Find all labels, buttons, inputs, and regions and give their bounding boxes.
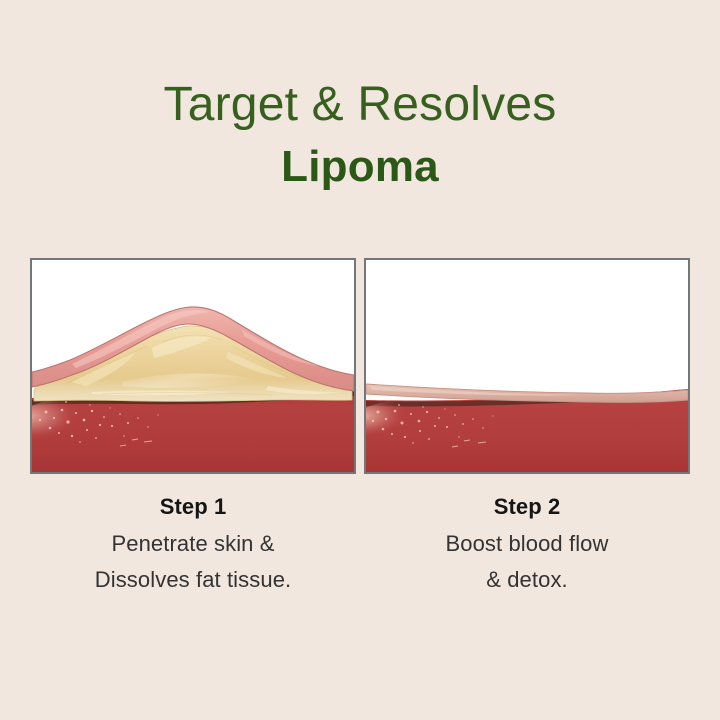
skin-cross-section-with-lipoma-icon xyxy=(32,260,354,472)
title-line-2: Lipoma xyxy=(0,138,720,196)
step-2-description-line-2: & detox. xyxy=(364,562,690,598)
step-1-title: Step 1 xyxy=(30,492,356,522)
page-title: Target & Resolves Lipoma xyxy=(0,74,720,196)
step-1-description-line-2: Dissolves fat tissue. xyxy=(30,562,356,598)
step-1-description-line-1: Penetrate skin & xyxy=(30,526,356,562)
panel-before xyxy=(30,258,356,474)
step-1-description: Penetrate skin & Dissolves fat tissue. xyxy=(30,526,356,598)
step-2-description-line-1: Boost blood flow xyxy=(364,526,690,562)
illustration-panels xyxy=(30,258,690,474)
panel-after xyxy=(364,258,690,474)
title-line-1: Target & Resolves xyxy=(0,74,720,136)
step-2-description: Boost blood flow & detox. xyxy=(364,526,690,598)
caption-step-2: Step 2 Boost blood flow & detox. xyxy=(364,492,690,598)
caption-step-1: Step 1 Penetrate skin & Dissolves fat ti… xyxy=(30,492,356,598)
step-captions: Step 1 Penetrate skin & Dissolves fat ti… xyxy=(30,492,690,598)
skin-cross-section-flat-icon xyxy=(366,260,688,472)
step-2-title: Step 2 xyxy=(364,492,690,522)
